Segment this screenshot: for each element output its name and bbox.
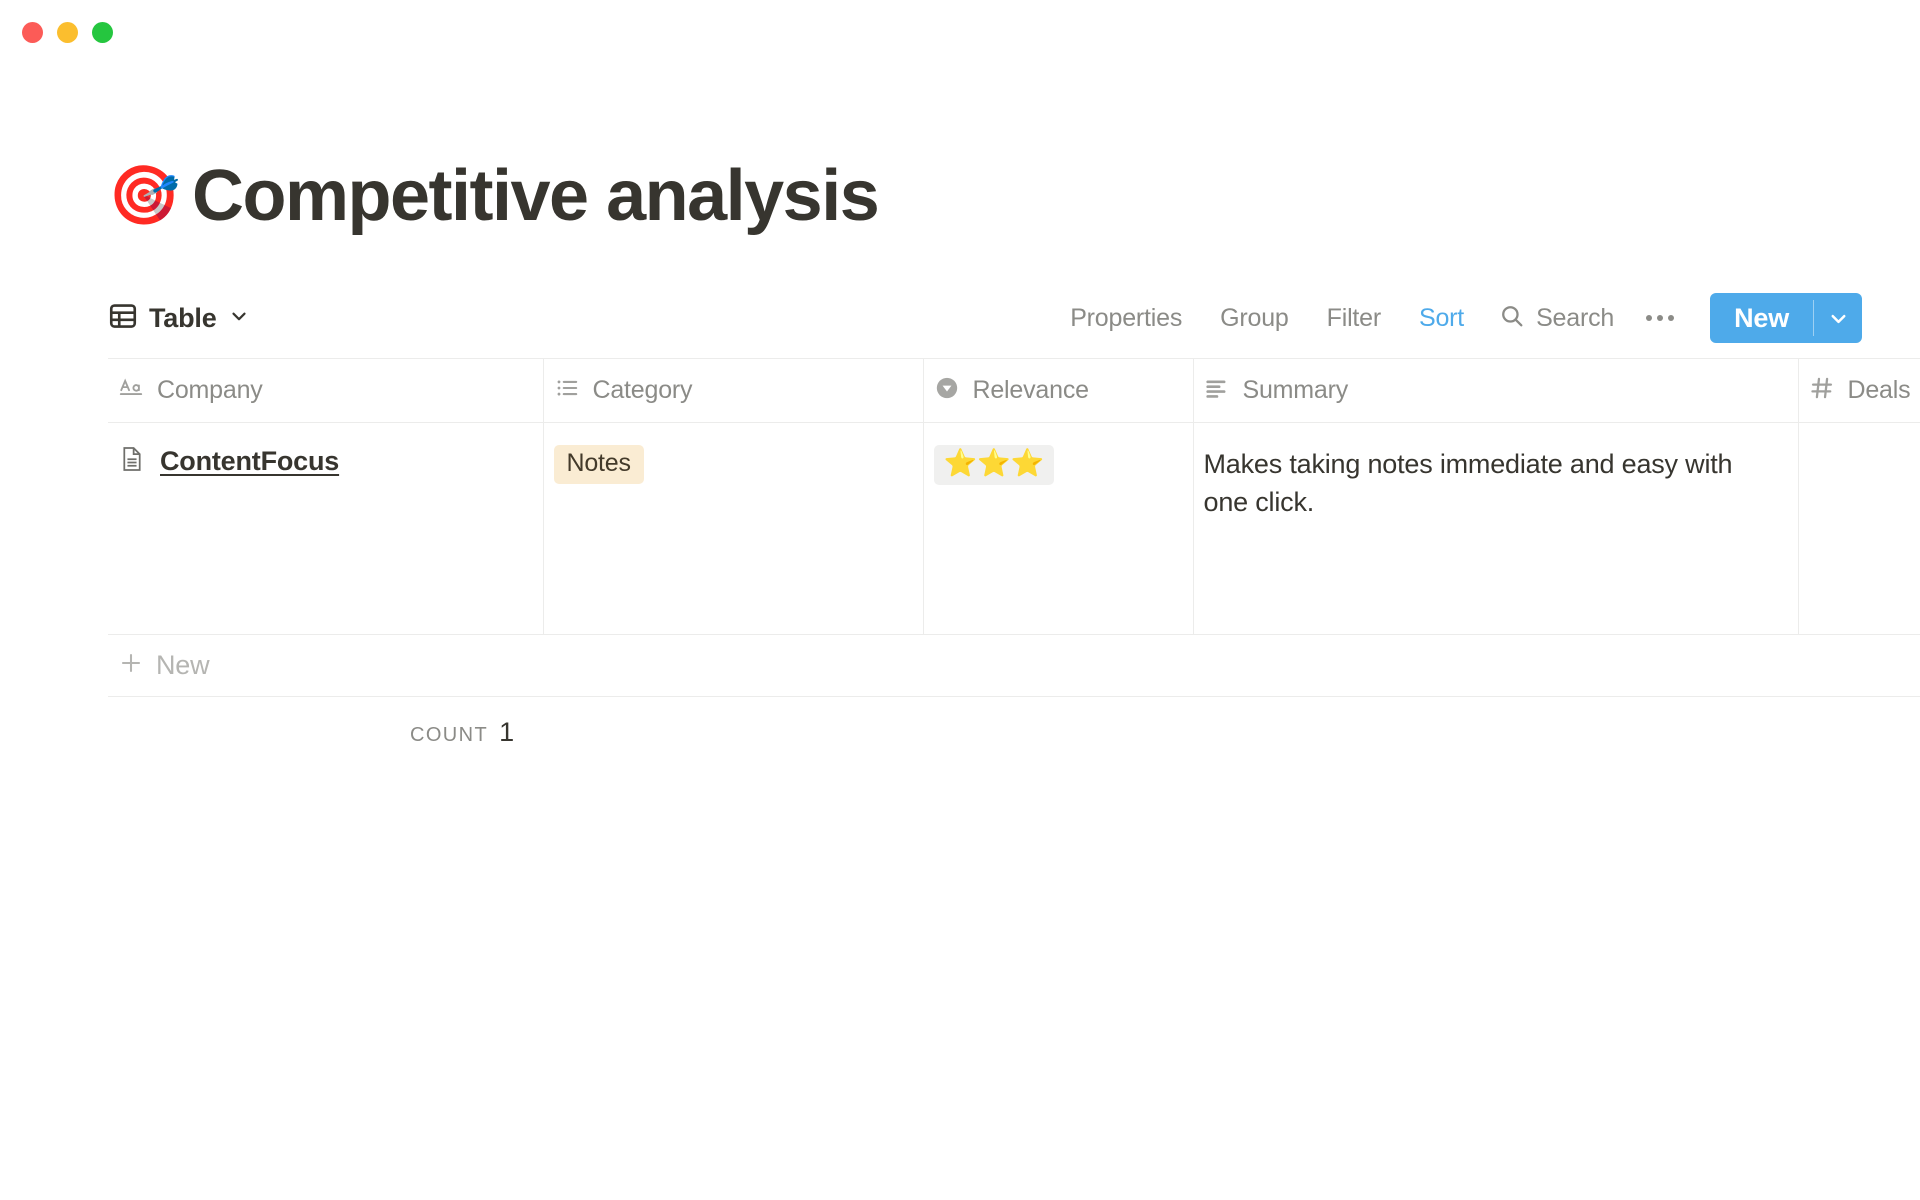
number-hash-icon <box>1809 375 1835 406</box>
toolbar-actions: Properties Group Filter Sort Search <box>1051 293 1862 343</box>
select-icon <box>934 375 960 406</box>
column-header-summary[interactable]: Summary <box>1193 359 1798 423</box>
dart-emoji[interactable]: 🎯 <box>108 167 170 225</box>
add-new-row-button[interactable]: New <box>108 635 1920 697</box>
page-content: 🎯 Competitive analysis Table <box>0 0 1920 767</box>
cell-deals[interactable] <box>1798 423 1920 635</box>
column-header-label: Company <box>157 376 263 405</box>
company-name-link[interactable]: ContentFocus <box>160 446 339 477</box>
search-label: Search <box>1536 304 1614 333</box>
table-body: ContentFocus Notes ⭐⭐⭐ <box>108 423 1920 635</box>
column-header-label: Summary <box>1243 376 1349 405</box>
cell-relevance[interactable]: ⭐⭐⭐ <box>923 423 1193 635</box>
view-tab-label: Table <box>149 303 217 334</box>
count-summary[interactable]: COUNT 1 <box>410 717 514 748</box>
count-label: COUNT <box>410 724 488 747</box>
relevance-stars[interactable]: ⭐⭐⭐ <box>934 445 1055 485</box>
page-icon <box>118 445 146 478</box>
count-value: 1 <box>499 717 514 748</box>
page-header: 🎯 Competitive analysis <box>0 150 1920 242</box>
new-button[interactable]: New <box>1710 293 1813 343</box>
column-header-label: Deals <box>1848 376 1911 405</box>
search-icon <box>1499 303 1525 334</box>
column-header-label: Relevance <box>973 376 1089 405</box>
column-header-company[interactable]: Company <box>108 359 543 423</box>
app-window: 🎯 Competitive analysis Table <box>0 0 1920 1200</box>
ellipsis-icon[interactable] <box>1628 309 1692 327</box>
table-header: Company <box>108 359 1920 423</box>
toolbar-properties-button[interactable]: Properties <box>1051 298 1201 339</box>
chevron-down-icon <box>228 305 250 332</box>
column-header-relevance[interactable]: Relevance <box>923 359 1193 423</box>
table-footer: COUNT 1 <box>108 697 1920 767</box>
category-tag[interactable]: Notes <box>554 445 644 484</box>
multi-select-icon <box>554 375 580 406</box>
column-header-label: Category <box>593 376 693 405</box>
view-toolbar: Table Properties Group Filter Sort <box>0 290 1920 346</box>
plus-icon <box>118 650 144 681</box>
database-table: Company <box>108 358 1920 635</box>
search-button[interactable]: Search <box>1483 297 1628 340</box>
toolbar-filter-button[interactable]: Filter <box>1308 298 1400 339</box>
add-new-row-label: New <box>156 650 209 681</box>
page-title[interactable]: Competitive analysis <box>192 160 878 232</box>
cell-summary[interactable]: Makes taking notes immediate and easy wi… <box>1193 423 1798 635</box>
database-table-wrapper: Company <box>0 358 1920 767</box>
toolbar-group-button[interactable]: Group <box>1201 298 1307 339</box>
new-button-group: New <box>1710 293 1862 343</box>
summary-text: Makes taking notes immediate and easy wi… <box>1204 449 1733 517</box>
table-header-row: Company <box>108 359 1920 423</box>
toolbar-sort-button[interactable]: Sort <box>1400 298 1483 339</box>
view-tab-table[interactable]: Table <box>108 301 250 336</box>
column-header-deals[interactable]: Deals <box>1798 359 1920 423</box>
text-lines-icon <box>1204 375 1230 406</box>
new-button-chevron-down-icon[interactable] <box>1814 293 1862 343</box>
table-icon <box>108 301 138 336</box>
table-row: ContentFocus Notes ⭐⭐⭐ <box>108 423 1920 635</box>
cell-category[interactable]: Notes <box>543 423 923 635</box>
text-type-icon <box>118 375 144 406</box>
cell-company[interactable]: ContentFocus <box>108 423 543 635</box>
column-header-category[interactable]: Category <box>543 359 923 423</box>
